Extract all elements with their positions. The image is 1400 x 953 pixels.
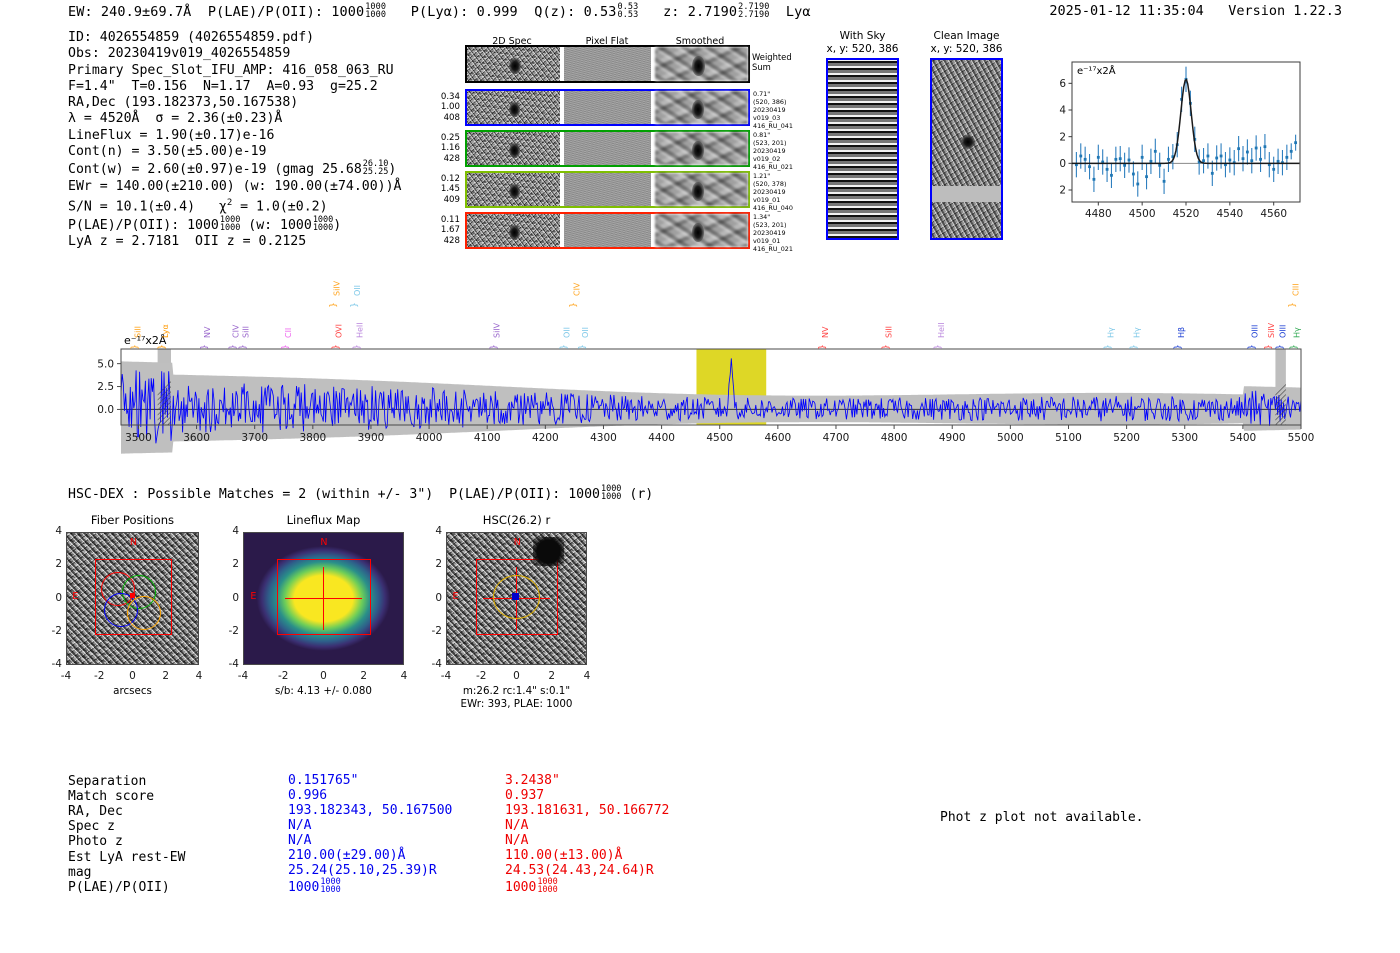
- match-value-text: 210.00(±29.00)Å: [288, 848, 405, 863]
- header-qz: Q(z): 0.53: [534, 4, 616, 20]
- line-marker-label: SiII: [133, 326, 142, 338]
- info-cont-w: Cont(w) = 2.60(±0.97)e-19 (gmag 25.6826.…: [68, 160, 401, 179]
- header-z-lo: 2.7190: [738, 11, 769, 19]
- x-tick-label: 4100: [474, 432, 501, 444]
- line-marker-label: OII: [581, 327, 590, 338]
- clean-image: [930, 58, 1003, 240]
- fiber-circle-3: [127, 596, 161, 630]
- x-tick-label: 4480: [1085, 208, 1112, 220]
- sky-panel-xy: x, y: 520, 386: [908, 43, 1025, 56]
- match-value-text: 25.24(25.10,25.39)R: [288, 863, 437, 878]
- cutout-x-tick: -4: [437, 670, 455, 682]
- match-row-value: 100010001000: [288, 878, 341, 895]
- cutout-y-tick: 4: [45, 525, 62, 537]
- header-timestamp-version: 2025-01-12 11:35:04 Version 1.22.3: [1049, 3, 1342, 19]
- info-radec: RA,Dec (193.182373,50.167538): [68, 95, 401, 111]
- full-spectrum-svg: 0.02.55.03500360037003800390040004100420…: [60, 270, 1350, 470]
- info-id: ID: 4026554859 (4026554859.pdf): [68, 30, 401, 46]
- x-tick-label: 3800: [299, 432, 326, 444]
- y-tick-label: 5.0: [97, 358, 114, 370]
- info-redshifts: LyA z = 2.7181 OII z = 0.2125: [68, 234, 401, 250]
- fiber-meta: 20230419: [753, 147, 793, 155]
- match-row-label: Est LyA rest-EW: [68, 850, 185, 865]
- line-marker-brace: }: [578, 344, 588, 350]
- x-tick-label: 4600: [764, 432, 791, 444]
- cutout-title-1: Lineflux Map: [218, 513, 429, 527]
- match-row-value: 193.182343, 50.167500: [288, 803, 452, 818]
- panel-pixelflat: [564, 173, 651, 206]
- fiber-metric: 1.16: [425, 143, 460, 153]
- y-tick-label: 2: [1059, 185, 1066, 197]
- info-plae-w-lo: 1000: [313, 224, 333, 232]
- spec2d-strip: [465, 89, 750, 126]
- fiber-row-left-labels: 0.341.00408: [425, 92, 460, 123]
- sky-panel-title: Clean Imagex, y: 520, 386: [908, 30, 1025, 55]
- match-row-label: Photo z: [68, 834, 123, 849]
- match-row-value: 0.937: [505, 788, 544, 803]
- header-plae: P(LAE)/P(OII): 1000: [208, 4, 364, 20]
- match-row-value: 110.00(±13.00)Å: [505, 848, 622, 863]
- cutout-y-tick: 0: [425, 592, 442, 604]
- cutout-y-tick: 0: [45, 592, 62, 604]
- match-value-text: N/A: [288, 833, 311, 848]
- fiber-meta: 0.81": [753, 131, 793, 139]
- fiber-meta: 20230419: [753, 188, 793, 196]
- fiber-row-right-labels: 1.34"(523, 201)20230419v019_01416_RU_021: [753, 213, 793, 253]
- line-marker-brace: }: [1264, 344, 1274, 350]
- emission-blob: [509, 58, 520, 74]
- sky-panel-name: With Sky: [804, 30, 921, 43]
- header-z-type: Lyα: [786, 4, 811, 20]
- info-obs: Obs: 20230419v019_4026554859: [68, 46, 401, 62]
- sky-panel-title: With Skyx, y: 520, 386: [804, 30, 921, 55]
- fiber-row-left-labels: 0.111.67428: [425, 215, 460, 246]
- match-row-value: 3.2438": [505, 773, 560, 788]
- image-pixels: [932, 60, 1001, 238]
- fiber-metric: 0.11: [425, 215, 460, 225]
- match-value-text: N/A: [505, 833, 528, 848]
- cutout-y-tick: -4: [425, 658, 442, 670]
- cutout-y-tick: 2: [425, 558, 442, 570]
- info-cont-n: Cont(n) = 3.50(±5.00)e-19: [68, 144, 401, 160]
- match-row-value: 210.00(±29.00)Å: [288, 848, 405, 863]
- info-plae-pre: P(LAE)/P(OII): 1000: [68, 218, 219, 233]
- line-marker-brace: }: [329, 302, 339, 308]
- cutout-x-tick: 2: [157, 670, 175, 682]
- with-sky-image: [826, 58, 899, 240]
- fiber-metric: 0.12: [425, 174, 460, 184]
- fiber-row-right-labels: 0.71"(520, 386)20230419v019_03416_RU_041: [753, 90, 793, 130]
- fiber-metric: 409: [425, 195, 460, 205]
- match-value-fraction: 10001000: [537, 878, 557, 894]
- header-plae-lo: 1000: [365, 11, 386, 19]
- match-row-value: 0.151765": [288, 773, 358, 788]
- line-profile-svg: 4480450045204540456020246e⁻¹⁷x2Å: [1042, 56, 1304, 228]
- info-chi-val: = 1.0(±0.2): [232, 200, 327, 215]
- x-tick-label: 3500: [125, 432, 152, 444]
- line-marker-brace: }: [1288, 302, 1298, 308]
- cutout-y-tick: 2: [222, 558, 239, 570]
- x-tick-label: 4200: [532, 432, 559, 444]
- line-marker-label: NV: [203, 326, 212, 338]
- fiber-meta: 1.34": [753, 213, 793, 221]
- line-marker-label: OII: [353, 285, 362, 296]
- panel-pixelflat: [564, 91, 651, 124]
- line-marker-label: SiII: [884, 326, 893, 338]
- cutout-y-tick: 4: [425, 525, 442, 537]
- hscdex-header-post: (r): [621, 487, 653, 502]
- x-tick-label: 4300: [590, 432, 617, 444]
- line-marker-brace: }: [130, 344, 140, 350]
- flux-units-annotation: e⁻¹⁷x2Å: [1077, 64, 1116, 77]
- compass-north-label: N: [130, 537, 137, 548]
- match-value-text: 0.996: [288, 788, 327, 803]
- cutout-x-tick: 0: [124, 670, 142, 682]
- full-spectrum-plot: 0.02.55.03500360037003800390040004100420…: [60, 270, 1350, 470]
- spec2d-strip: [465, 45, 750, 83]
- line-marker-label: SiIV: [1267, 322, 1276, 338]
- fiber-meta: v019_01: [753, 237, 793, 245]
- line-marker-brace: }: [229, 344, 239, 350]
- info-cont-w-text: Cont(w) = 2.60(±0.97)e-19 (gmag 25.68: [68, 163, 362, 178]
- cutout-x-tick: 4: [578, 670, 596, 682]
- line-marker-label: SiII: [242, 326, 251, 338]
- x-tick-label: 5500: [1288, 432, 1315, 444]
- line-marker-label: OIII: [1279, 325, 1288, 338]
- match-row-label: mag: [68, 865, 91, 880]
- line-marker-brace: }: [350, 302, 360, 308]
- cutout-x-tick: -2: [274, 670, 292, 682]
- spec2d-strip: [465, 171, 750, 208]
- bright-source: [533, 537, 564, 566]
- fiber-meta: 416_RU_040: [753, 204, 793, 212]
- cutout-x-tick: -4: [234, 670, 252, 682]
- line-marker-label: CIII: [1291, 283, 1300, 296]
- header-plya: P(Lyα): 0.999: [411, 4, 518, 20]
- info-plae-lo: 1000: [220, 224, 240, 232]
- panel-pixelflat: [564, 47, 651, 81]
- detection-info-block: ID: 4026554859 (4026554859.pdf) Obs: 202…: [68, 30, 401, 251]
- spec2d-strip: [465, 212, 750, 249]
- match-row-value: 0.996: [288, 788, 327, 803]
- hscdex-plae-lo: 1000: [601, 493, 621, 501]
- cutout-caption-0: arcsecs: [31, 685, 234, 698]
- line-marker-brace: }: [331, 344, 341, 350]
- x-tick-label: 4500: [1129, 208, 1156, 220]
- cutout-x-tick: 4: [395, 670, 413, 682]
- cutout-y-tick: -2: [45, 625, 62, 637]
- match-value-text: 0.937: [505, 788, 544, 803]
- line-marker-brace: }: [200, 344, 210, 350]
- compass-north-label: N: [320, 537, 327, 548]
- line-marker-label: Hγ: [1293, 327, 1302, 338]
- header-ew: EW: 240.9±69.7Å: [68, 4, 191, 20]
- y-tick-label: 0: [1059, 158, 1066, 170]
- cutout-y-tick: -4: [222, 658, 239, 670]
- cutout-caption-1: s/b: 4.13 +/- 0.080: [208, 685, 439, 698]
- fiber-meta: 416_RU_041: [753, 122, 793, 130]
- fraction-lower: 1000: [537, 886, 557, 894]
- fiber-meta: 1.21": [753, 172, 793, 180]
- line-marker-label: Lyα: [161, 324, 170, 338]
- fiber-meta: 20230419: [753, 229, 793, 237]
- panel-pixelflat: [564, 214, 651, 247]
- timestamp: 2025-01-12 11:35:04: [1049, 3, 1203, 19]
- line-marker-label: OVI: [335, 324, 344, 338]
- match-value-text: 110.00(±13.00)Å: [505, 848, 622, 863]
- cutout-y-tick: 2: [45, 558, 62, 570]
- y-tick-label: 0.0: [97, 404, 114, 416]
- fiber-metric: 0.25: [425, 133, 460, 143]
- info-gmag-lo: 25.25: [363, 168, 389, 176]
- match-value-text: 1000: [288, 880, 319, 895]
- match-value-text: 1000: [505, 880, 536, 895]
- cutout-x-tick: 2: [355, 670, 373, 682]
- cutout-image-2: NE: [446, 532, 587, 665]
- fiber-meta: (520, 378): [753, 180, 793, 188]
- crosshair-vertical: [323, 567, 325, 630]
- cutout-title-0: Fiber Positions: [41, 513, 224, 527]
- x-tick-label: 4500: [706, 432, 733, 444]
- info-sn-chi2: S/N = 10.1(±0.4) χ2 = 1.0(±0.2): [68, 195, 401, 216]
- cutout-y-tick: -2: [222, 625, 239, 637]
- line-marker-brace: }: [569, 302, 579, 308]
- cutout-caption-2: m:26.2 rc:1.4" s:0.1"EWr: 393, PLAE: 100…: [411, 685, 622, 711]
- masked-band: [932, 186, 1001, 202]
- match-row-value: 24.53(24.43,24.64)R: [505, 863, 654, 878]
- line-marker-label: OIII: [1251, 325, 1260, 338]
- x-tick-label: 3900: [358, 432, 385, 444]
- header-z: z: 2.7190: [663, 4, 737, 20]
- info-chi: χ: [219, 200, 227, 215]
- fiber-metric: 1.67: [425, 225, 460, 235]
- info-sn: S/N = 10.1(±0.4): [68, 200, 219, 215]
- match-row-label: Spec z: [68, 819, 115, 834]
- line-marker-brace: }: [1275, 344, 1285, 350]
- cutout-x-tick: -2: [472, 670, 490, 682]
- line-marker-label: HeII: [937, 322, 946, 338]
- cutout-image-1: NE: [243, 532, 404, 665]
- fiber-meta: 416_RU_021: [753, 163, 793, 171]
- fiber-meta: (520, 386): [753, 98, 793, 106]
- cutout-x-tick: 2: [543, 670, 561, 682]
- info-lambda-sigma: λ = 4520Å σ = 2.36(±0.23)Å: [68, 111, 401, 127]
- line-marker-label: CIV: [232, 324, 241, 338]
- x-tick-label: 4000: [416, 432, 443, 444]
- version-label: Version 1.22.3: [1228, 3, 1342, 19]
- x-tick-label: 5200: [1113, 432, 1140, 444]
- x-tick-label: 4520: [1173, 208, 1200, 220]
- header-qz-lo: 0.53: [618, 11, 639, 19]
- x-tick-label: 4560: [1260, 208, 1287, 220]
- detection-marker: [130, 593, 135, 598]
- line-marker-label: SiIV: [493, 322, 502, 338]
- match-value-text: 24.53(24.43,24.64)R: [505, 863, 654, 878]
- image-pixels: [828, 60, 897, 238]
- match-row-label: P(LAE)/P(OII): [68, 880, 170, 895]
- y-tick-label: 2.5: [97, 381, 114, 393]
- fiber-meta: v019_02: [753, 155, 793, 163]
- line-marker-brace: }: [490, 344, 500, 350]
- cutout-x-tick: -4: [57, 670, 75, 682]
- x-tick-label: 4400: [648, 432, 675, 444]
- line-profile-plot: 4480450045204540456020246e⁻¹⁷x2Å: [1042, 56, 1304, 228]
- source-blob: [961, 135, 975, 149]
- x-tick-label: 4700: [823, 432, 850, 444]
- compass-north-label: N: [514, 537, 521, 548]
- x-tick-label: 5100: [1055, 432, 1082, 444]
- cutout-caption-line1: m:26.2 rc:1.4" s:0.1": [411, 685, 622, 698]
- fiber-meta: v019_03: [753, 114, 793, 122]
- match-value-text: 193.182343, 50.167500: [288, 803, 452, 818]
- line-marker-brace: }: [1247, 344, 1257, 350]
- line-marker-label: NV: [821, 326, 830, 338]
- cutout-y-tick: -4: [45, 658, 62, 670]
- cutout-y-tick: 4: [222, 525, 239, 537]
- hscdex-header: HSC-DEX : Possible Matches = 2 (within +…: [68, 485, 653, 502]
- fiber-metric: 428: [425, 154, 460, 164]
- fiber-meta: 20230419: [753, 106, 793, 114]
- line-marker-label: OII: [562, 327, 571, 338]
- x-tick-label: 4900: [939, 432, 966, 444]
- line-marker-label: CIV: [572, 282, 581, 296]
- emission-blob: [692, 56, 705, 76]
- info-primary-spec: Primary Spec_Slot_IFU_AMP: 416_058_063_R…: [68, 63, 401, 79]
- fiber-metric: 428: [425, 236, 460, 246]
- sky-panel-name: Clean Image: [908, 30, 1025, 43]
- x-tick-label: 4540: [1216, 208, 1243, 220]
- fiber-meta: v019_01: [753, 196, 793, 204]
- match-row-value: N/A: [288, 833, 311, 848]
- line-marker-brace: }: [934, 344, 944, 350]
- header-summary: EW: 240.9±69.7Å P(LAE)/P(OII): 100010001…: [68, 3, 811, 20]
- line-marker-label: Hγ: [1107, 327, 1116, 338]
- line-marker-brace: }: [281, 344, 291, 350]
- cutout-x-tick: 4: [190, 670, 208, 682]
- line-marker-brace: }: [352, 344, 362, 350]
- cutout-x-tick: 0: [508, 670, 526, 682]
- match-value-text: 193.181631, 50.166772: [505, 803, 669, 818]
- cutout-y-tick: 0: [222, 592, 239, 604]
- counterpart-marker: [512, 593, 519, 600]
- line-marker-label: CII: [284, 328, 293, 338]
- x-tick-label: 3700: [241, 432, 268, 444]
- match-row-label: Match score: [68, 789, 154, 804]
- info-plae-mid: (w: 1000: [240, 218, 311, 233]
- hscdex-header-text: HSC-DEX : Possible Matches = 2 (within +…: [68, 487, 600, 502]
- sky-panel-xy: x, y: 520, 386: [804, 43, 921, 56]
- match-row-label: Separation: [68, 774, 146, 789]
- line-marker-brace: }: [238, 344, 248, 350]
- match-row-value: N/A: [505, 833, 528, 848]
- fiber-row-right-labels: 1.21"(520, 378)20230419v019_01416_RU_040: [753, 172, 793, 212]
- match-row-value: 25.24(25.10,25.39)R: [288, 863, 437, 878]
- fiber-meta: (523, 201): [753, 139, 793, 147]
- x-tick-label: 5300: [1171, 432, 1198, 444]
- panel-pixelflat: [564, 132, 651, 165]
- info-plae-post: ): [333, 218, 341, 233]
- y-tick-label: 6: [1059, 78, 1066, 90]
- line-marker-brace: }: [1289, 344, 1299, 350]
- compass-east-label: E: [72, 591, 78, 602]
- fiber-meta: 416_RU_021: [753, 245, 793, 253]
- cutout-x-tick: -2: [90, 670, 108, 682]
- line-marker-brace: }: [1103, 344, 1113, 350]
- cutout-caption-line2: EWr: 393, PLAE: 1000: [411, 698, 622, 711]
- spec2d-strip: [465, 130, 750, 167]
- y-tick-label: 2: [1059, 131, 1066, 143]
- match-row-value: 193.181631, 50.166772: [505, 803, 669, 818]
- info-cont-w-close: ): [388, 163, 396, 178]
- photz-message: Phot z plot not available.: [940, 810, 1144, 825]
- y-tick-label: 4: [1059, 105, 1066, 117]
- x-tick-label: 4800: [881, 432, 908, 444]
- compass-east-label: E: [250, 591, 256, 602]
- fiber-metric: 1.00: [425, 102, 460, 112]
- match-value-text: N/A: [505, 818, 528, 833]
- info-ewr: EWr = 140.00(±210.00) (w: 190.00(±74.00)…: [68, 179, 401, 195]
- line-marker-brace: }: [559, 344, 569, 350]
- fiber-metric: 408: [425, 113, 460, 123]
- line-marker-label: SiIV: [332, 280, 341, 296]
- weighted-sum-label: Weighted Sum: [752, 52, 792, 72]
- fiber-meta: (523, 201): [753, 221, 793, 229]
- info-seeing: F=1.4" T=0.156 N=1.17 A=0.93 g=25.2: [68, 79, 401, 95]
- match-row-value: N/A: [505, 818, 528, 833]
- match-row-value: 100010001000: [505, 878, 558, 895]
- compass-east-label: E: [453, 591, 459, 602]
- match-value-text: 3.2438": [505, 773, 560, 788]
- cutout-title-2: HSC(26.2) r: [421, 513, 612, 527]
- match-value-text: N/A: [288, 818, 311, 833]
- line-marker-brace: }: [158, 344, 168, 350]
- info-plae: P(LAE)/P(OII): 100010001000 (w: 10001000…: [68, 216, 401, 235]
- fiber-metric: 0.34: [425, 92, 460, 102]
- cutout-image-0: NE: [66, 532, 199, 665]
- info-lineflux: LineFlux = 1.90(±0.17)e-16: [68, 128, 401, 144]
- x-tick-label: 5400: [1230, 432, 1257, 444]
- x-tick-label: 5000: [997, 432, 1024, 444]
- line-marker-brace: }: [1129, 344, 1139, 350]
- x-tick-label: 3600: [183, 432, 210, 444]
- match-value-text: 0.151765": [288, 773, 358, 788]
- line-marker-label: Hγ: [1133, 327, 1142, 338]
- match-row-label: RA, Dec: [68, 804, 123, 819]
- fiber-row-right-labels: 0.81"(523, 201)20230419v019_02416_RU_021: [753, 131, 793, 171]
- fiber-meta: 0.71": [753, 90, 793, 98]
- fiber-row-left-labels: 0.251.16428: [425, 133, 460, 164]
- cutout-y-tick: -2: [425, 625, 442, 637]
- line-marker-label: Hβ: [1177, 327, 1186, 338]
- match-row-value: N/A: [288, 818, 311, 833]
- line-marker-label: HeII: [356, 322, 365, 338]
- line-marker-brace: }: [1174, 344, 1184, 350]
- fiber-metric: 1.45: [425, 184, 460, 194]
- line-marker-brace: }: [881, 344, 891, 350]
- line-marker-brace: }: [818, 344, 828, 350]
- cutout-x-tick: 0: [315, 670, 333, 682]
- fraction-lower: 1000: [320, 886, 340, 894]
- fiber-row-left-labels: 0.121.45409: [425, 174, 460, 205]
- match-value-fraction: 10001000: [320, 878, 340, 894]
